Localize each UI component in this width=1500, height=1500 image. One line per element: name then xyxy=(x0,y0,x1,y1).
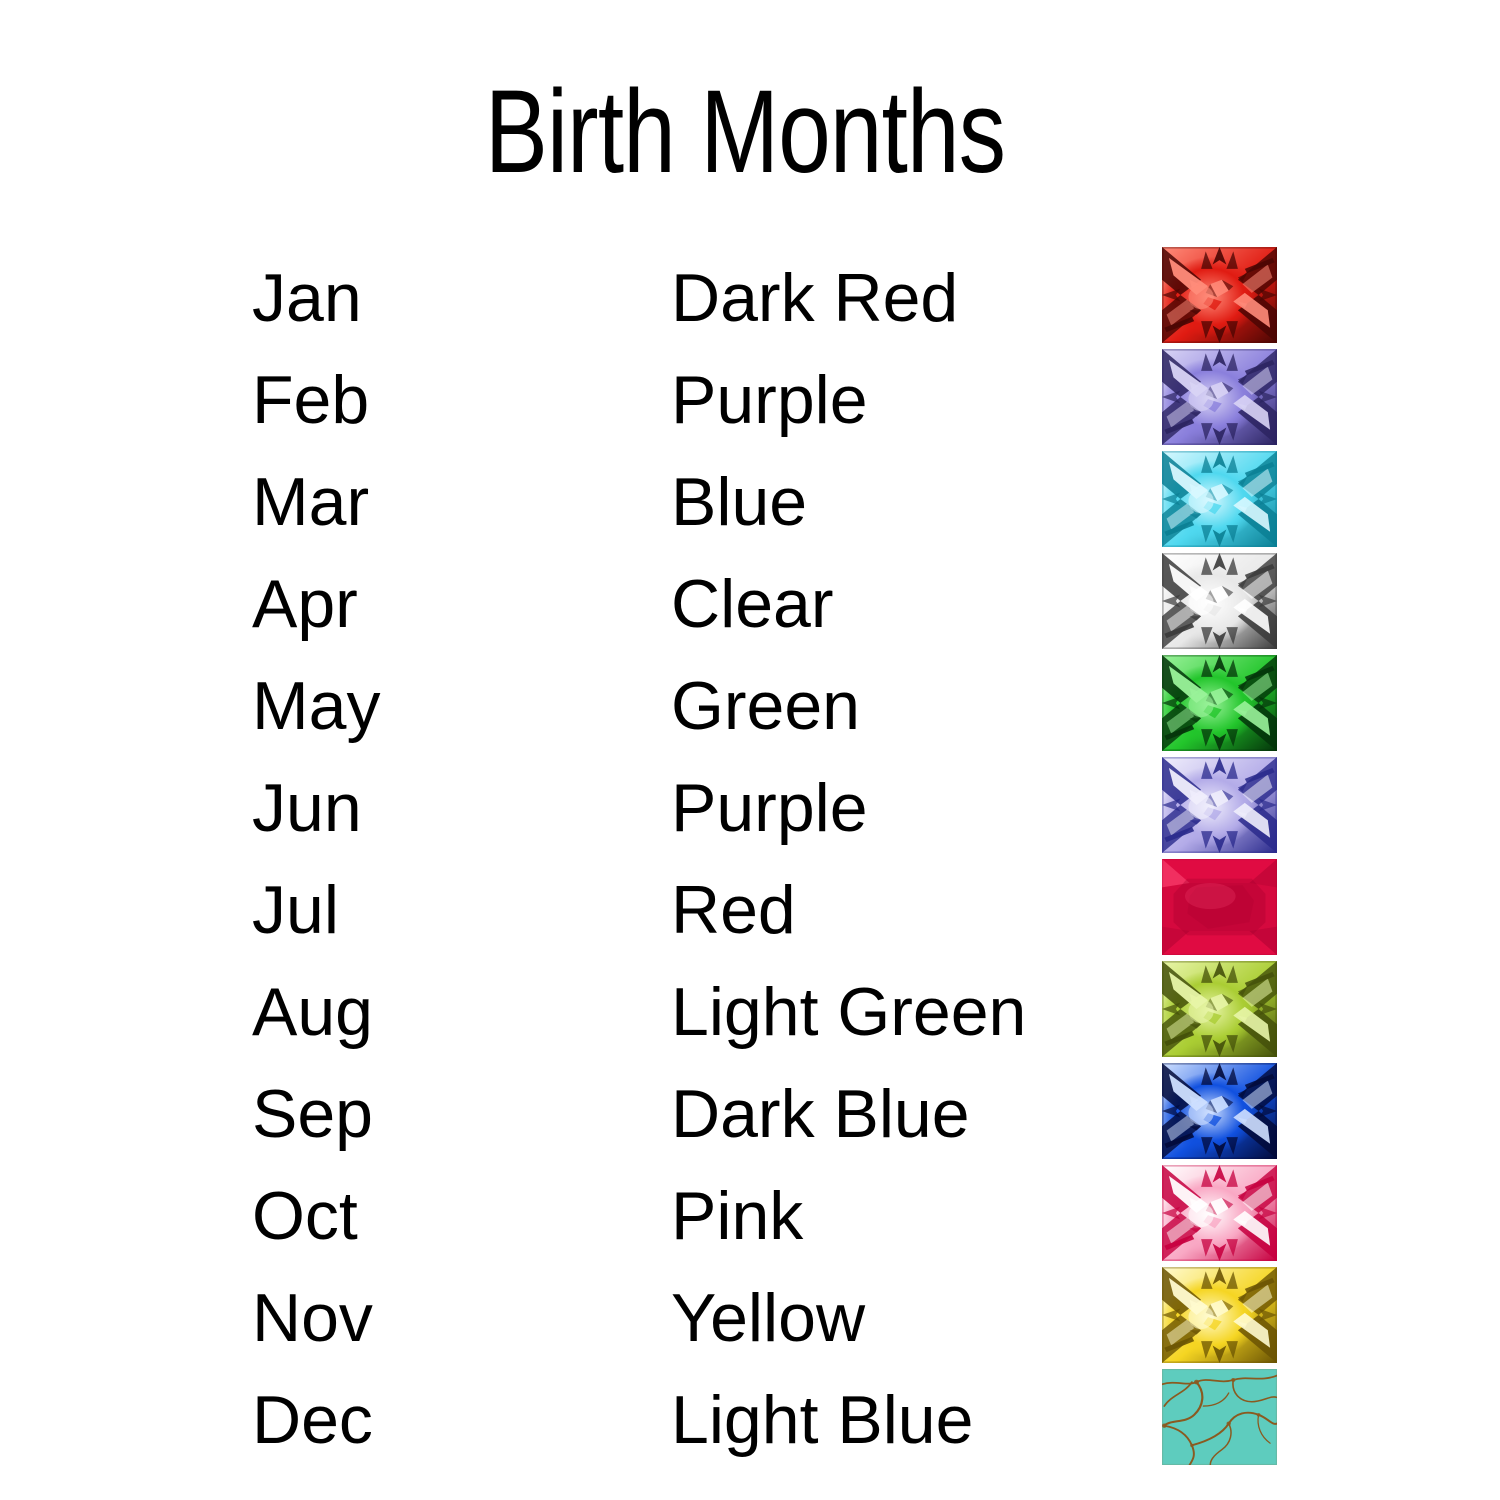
birth-month-row: JulRed xyxy=(0,859,1500,961)
page-title: Birth Months xyxy=(149,72,1341,192)
color-label: Dark Blue xyxy=(671,1063,970,1165)
birth-month-row: JunPurple xyxy=(0,757,1500,859)
color-label: Purple xyxy=(671,349,868,451)
birth-month-row: AugLight Green xyxy=(0,961,1500,1063)
color-label: Blue xyxy=(671,451,807,553)
birth-month-row: MayGreen xyxy=(0,655,1500,757)
color-label: Clear xyxy=(671,553,834,655)
month-label: Nov xyxy=(252,1267,373,1369)
month-label: Aug xyxy=(252,961,373,1063)
color-label: Red xyxy=(671,859,796,961)
month-label: Jul xyxy=(252,859,339,961)
aquamarine-gem xyxy=(1162,451,1277,553)
month-label: Dec xyxy=(252,1369,373,1471)
month-label: Jan xyxy=(252,247,362,349)
birth-month-row: DecLight Blue xyxy=(0,1369,1500,1471)
birth-months-poster: Birth Months JanDark Red xyxy=(0,0,1500,1500)
peridot-gem xyxy=(1162,961,1277,1063)
birth-month-row: MarBlue xyxy=(0,451,1500,553)
ruby-gem xyxy=(1162,859,1277,961)
citrine-gem xyxy=(1162,1267,1277,1369)
month-label: Feb xyxy=(252,349,369,451)
birth-month-row: SepDark Blue xyxy=(0,1063,1500,1165)
month-label: Oct xyxy=(252,1165,358,1267)
color-label: Purple xyxy=(671,757,868,859)
turquoise-gem xyxy=(1162,1369,1277,1471)
emerald-gem xyxy=(1162,655,1277,757)
birth-month-row: OctPink xyxy=(0,1165,1500,1267)
garnet-gem xyxy=(1162,247,1277,349)
birth-month-row: FebPurple xyxy=(0,349,1500,451)
month-label: Jun xyxy=(252,757,362,859)
sapphire-gem xyxy=(1162,1063,1277,1165)
month-label: May xyxy=(252,655,380,757)
diamond-gem xyxy=(1162,553,1277,655)
color-label: Light Green xyxy=(671,961,1026,1063)
alexandrite-gem xyxy=(1162,757,1277,859)
color-label: Green xyxy=(671,655,860,757)
tourmaline-gem xyxy=(1162,1165,1277,1267)
color-label: Pink xyxy=(671,1165,803,1267)
month-label: Apr xyxy=(252,553,358,655)
amethyst-gem xyxy=(1162,349,1277,451)
birth-month-row: AprClear xyxy=(0,553,1500,655)
birth-months-list: JanDark Red xyxy=(0,247,1500,1471)
color-label: Yellow xyxy=(671,1267,865,1369)
month-label: Sep xyxy=(252,1063,373,1165)
birth-month-row: JanDark Red xyxy=(0,247,1500,349)
month-label: Mar xyxy=(252,451,369,553)
color-label: Dark Red xyxy=(671,247,958,349)
color-label: Light Blue xyxy=(671,1369,973,1471)
birth-month-row: NovYellow xyxy=(0,1267,1500,1369)
